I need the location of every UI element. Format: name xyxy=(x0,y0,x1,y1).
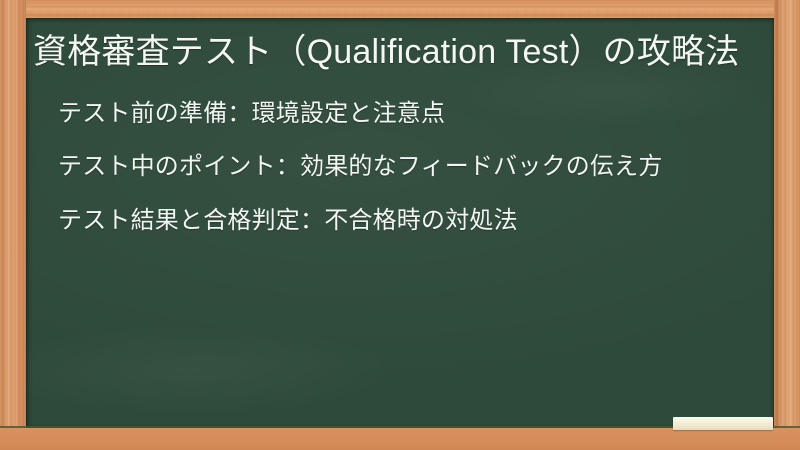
board-content: 資格審査テスト（Qualification Test）の攻略法 テスト前の準備：… xyxy=(26,18,774,428)
list-item[interactable]: テスト中のポイント：効果的なフィードバックの伝え方 xyxy=(33,150,754,184)
table-of-contents: テスト前の準備：環境設定と注意点 テスト中のポイント：効果的なフィードバックの伝… xyxy=(33,97,754,238)
page-title: 資格審査テスト（Qualification Test）の攻略法 xyxy=(33,30,754,75)
list-item[interactable]: テスト前の準備：環境設定と注意点 xyxy=(33,97,754,131)
chalkboard-surface: 資格審査テスト（Qualification Test）の攻略法 テスト前の準備：… xyxy=(26,18,774,428)
blackboard-frame: 資格審査テスト（Qualification Test）の攻略法 テスト前の準備：… xyxy=(0,0,800,450)
frame-rail-top xyxy=(0,0,800,18)
list-item[interactable]: テスト結果と合格判定：不合格時の対処法 xyxy=(33,204,754,238)
chalk-ledge xyxy=(0,428,800,450)
chalk-stick-icon xyxy=(673,417,773,430)
frame-rail-right xyxy=(774,0,800,450)
frame-rail-left xyxy=(0,0,26,450)
